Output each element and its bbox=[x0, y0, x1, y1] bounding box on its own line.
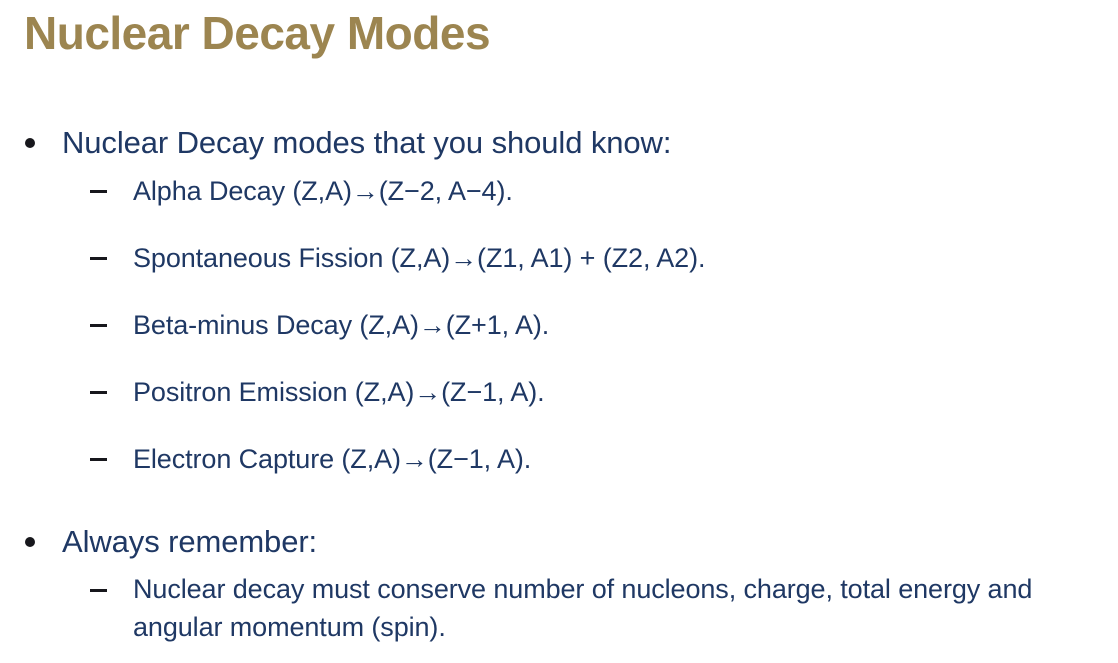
bullet-dash-icon bbox=[90, 589, 107, 592]
list-item-label: Nuclear Decay modes that you should know… bbox=[62, 125, 671, 160]
list-spacer bbox=[0, 506, 1118, 520]
bullet-dot-icon bbox=[25, 537, 35, 547]
list-item: Nuclear Decay modes that you should know… bbox=[0, 121, 1118, 165]
list-item-label: Nuclear decay must conserve number of nu… bbox=[133, 574, 1032, 642]
list-item: Electron Capture (Z,A)→(Z−1, A). bbox=[0, 439, 1118, 506]
list-item-label: Alpha Decay (Z,A)→(Z−2, A−4). bbox=[133, 176, 513, 206]
list-item: Positron Emission (Z,A)→(Z−1, A). bbox=[0, 372, 1118, 439]
bullet-dash-icon bbox=[90, 257, 107, 260]
list-item: Spontaneous Fission (Z,A)→(Z1, A1) + (Z2… bbox=[0, 238, 1118, 305]
list-item: Alpha Decay (Z,A)→(Z−2, A−4). bbox=[0, 171, 1118, 238]
list-item-label: Always remember: bbox=[62, 524, 317, 559]
bullet-dash-icon bbox=[90, 391, 107, 394]
list-item-label: Positron Emission (Z,A)→(Z−1, A). bbox=[133, 377, 545, 407]
list-item: Nuclear decay must conserve number of nu… bbox=[0, 570, 1118, 646]
bullet-dash-icon bbox=[90, 458, 107, 461]
list-item-label: Beta-minus Decay (Z,A)→(Z+1, A). bbox=[133, 310, 549, 340]
list-item: Beta-minus Decay (Z,A)→(Z+1, A). bbox=[0, 305, 1118, 372]
list-item: Always remember: bbox=[0, 520, 1118, 564]
bullet-dot-icon bbox=[25, 138, 35, 148]
bullet-list: Nuclear Decay modes that you should know… bbox=[0, 121, 1118, 646]
list-item-label: Spontaneous Fission (Z,A)→(Z1, A1) + (Z2… bbox=[133, 243, 705, 273]
page-title: Nuclear Decay Modes bbox=[24, 2, 1094, 64]
bullet-dash-icon bbox=[90, 190, 107, 193]
slide: Nuclear Decay Modes Nuclear Decay modes … bbox=[0, 0, 1118, 663]
list-item-label: Electron Capture (Z,A)→(Z−1, A). bbox=[133, 444, 531, 474]
bullet-dash-icon bbox=[90, 324, 107, 327]
